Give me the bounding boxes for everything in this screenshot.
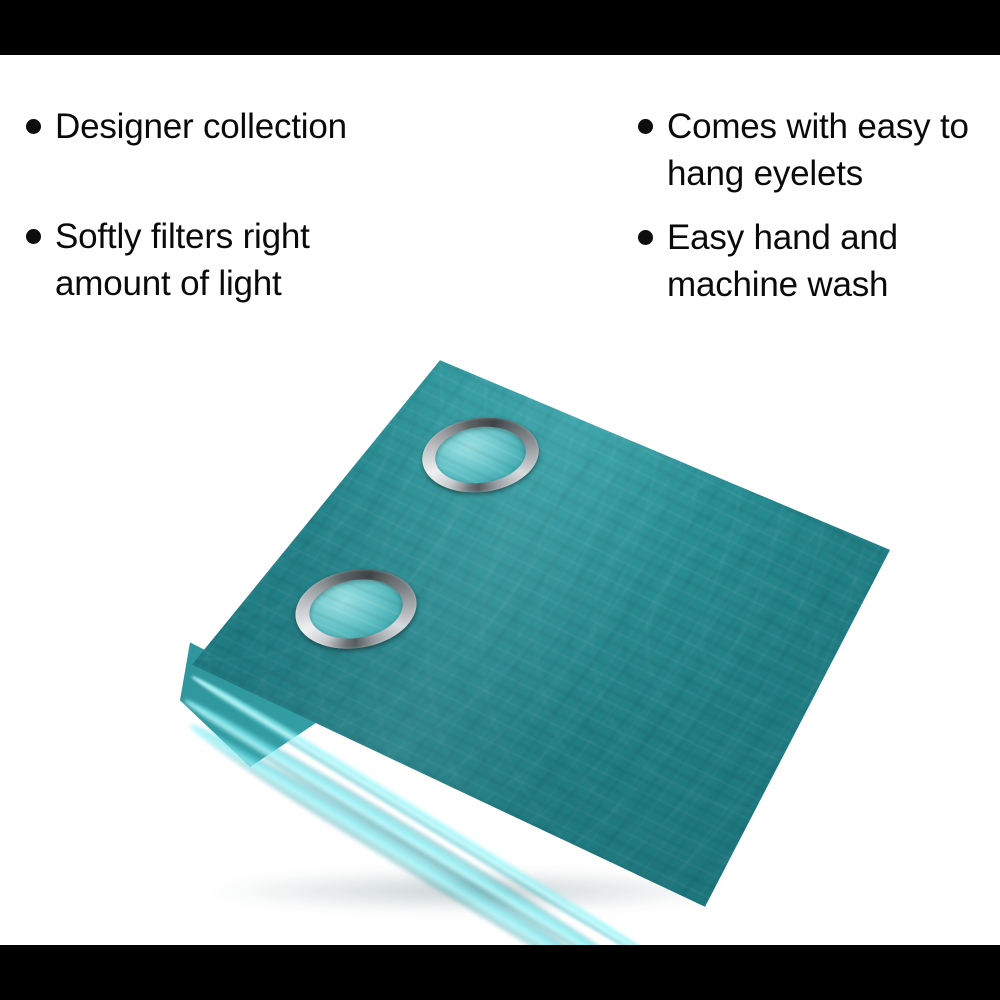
letterbox-bar-bottom — [0, 945, 1000, 1000]
product-feature-image: Designer collection Softly filters right… — [0, 0, 1000, 1000]
feature-item-easy-hang-eyelets: Comes with easy to hang eyelets — [638, 103, 1000, 197]
eyelet-upper-hole — [432, 422, 529, 489]
feature-text: Softly filters right amount of light — [55, 213, 310, 307]
feature-text: Easy hand and machine wash — [667, 214, 898, 308]
feature-text: Comes with easy to hang eyelets — [667, 103, 969, 197]
feature-item-designer-collection: Designer collection — [26, 103, 496, 150]
feature-text: Designer collection — [55, 103, 347, 150]
bullet-dot-icon — [26, 229, 41, 244]
feature-item-softly-filters-light: Softly filters right amount of light — [26, 213, 496, 307]
feature-list-left: Designer collection Softly filters right… — [26, 55, 496, 315]
eyelet-lower-hole — [305, 573, 407, 645]
photo-canvas: Designer collection Softly filters right… — [0, 55, 1000, 945]
bullet-dot-icon — [638, 230, 653, 245]
bullet-dot-icon — [638, 119, 653, 134]
letterbox-bar-top — [0, 0, 1000, 55]
feature-list-right: Comes with easy to hang eyelets Easy han… — [638, 55, 1000, 316]
feature-item-easy-hand-machine-wash: Easy hand and machine wash — [638, 214, 1000, 308]
bullet-dot-icon — [26, 119, 41, 134]
